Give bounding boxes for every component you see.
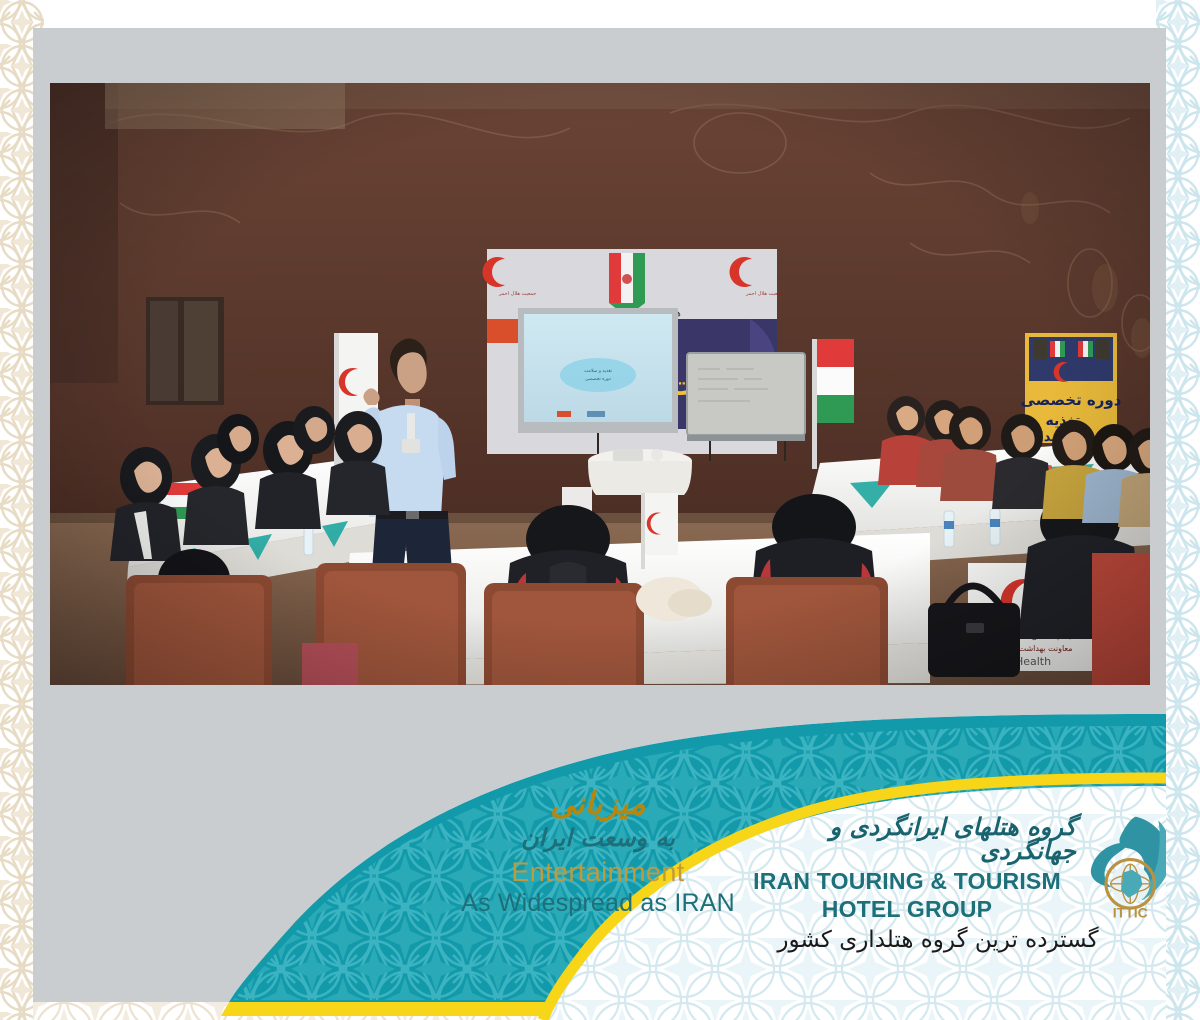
- mizbani-script-bottom: به وسعت ایران: [448, 825, 748, 851]
- ittic-title-line1: IRAN TOURING & TOURISM: [738, 868, 1076, 895]
- entertainment-title: Entertainment: [448, 857, 748, 888]
- ittic-logo-icon: ITTIC: [1078, 811, 1166, 923]
- event-photo: جمعیت هلال احمر جمعیت هلال احمر هشتمین د…: [50, 83, 1150, 685]
- ittic-lockup: گروه هتلهای ایرانگردی و جهانگردی IRAN TO…: [738, 815, 1138, 953]
- poster-canvas: جمعیت هلال احمر جمعیت هلال احمر هشتمین د…: [0, 0, 1200, 1020]
- ittic-script-fa: گروه هتلهای ایرانگردی و جهانگردی: [738, 815, 1076, 863]
- ittic-mark-label: ITTIC: [1113, 904, 1148, 920]
- ittic-title-line2: HOTEL GROUP: [738, 896, 1076, 923]
- ittic-tagline: گسترده ترین گروه هتلداری کشور: [738, 927, 1138, 953]
- entertainment-subtitle: As Widespread as IRAN: [448, 889, 748, 918]
- event-photo-illustration: جمعیت هلال احمر جمعیت هلال احمر هشتمین د…: [50, 83, 1150, 685]
- mizbani-script-top: میزبانی: [448, 788, 748, 821]
- mizbani-lockup: میزبانی به وسعت ایران Entertainment As W…: [448, 788, 748, 918]
- brand-zone: میزبانی به وسعت ایران Entertainment As W…: [33, 690, 1166, 1020]
